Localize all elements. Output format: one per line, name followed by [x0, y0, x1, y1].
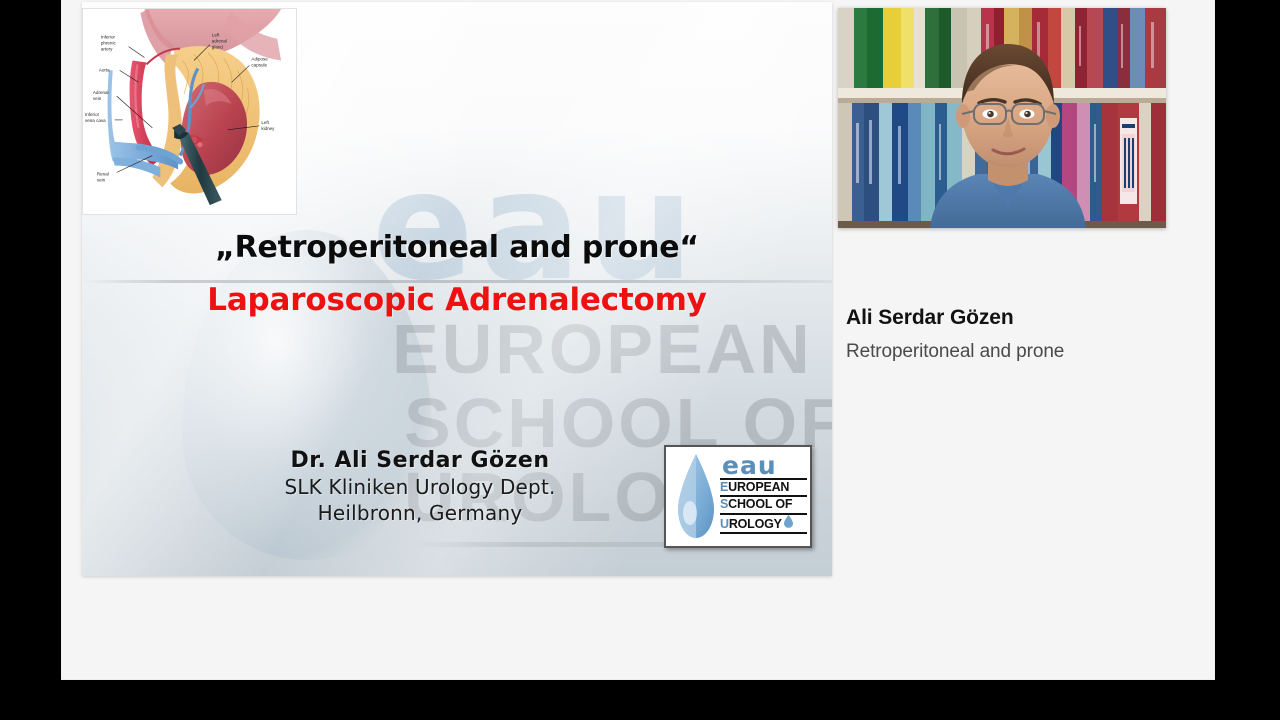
presenter-name: Ali Serdar Gözen — [846, 305, 1206, 331]
adrenal-anatomy-illustration: Inferior phrenic artery Aorta Adrenal ve… — [82, 8, 297, 215]
svg-text:phrenic: phrenic — [101, 41, 117, 46]
presentation-subtitle: Retroperitoneal and prone — [846, 340, 1206, 364]
esu-cap-e: E — [720, 480, 728, 495]
slide-presenter-name: Dr. Ali Serdar Gözen — [200, 448, 640, 473]
esu-logo: eau EUROPEAN SCHOOL OF UROLOGY — [664, 445, 812, 548]
slide-panel[interactable]: eau EUROPEAN SCHOOL OF UROLOGY — [82, 2, 832, 576]
content-page: eau EUROPEAN SCHOOL OF UROLOGY — [62, 0, 1214, 679]
svg-text:vein: vein — [93, 96, 102, 101]
webcam-frame-image — [838, 8, 1166, 228]
svg-text:Left: Left — [261, 120, 269, 125]
presenter-meta-block: Ali Serdar Gözen Retroperitoneal and pro… — [846, 305, 1206, 364]
svg-text:Aorta: Aorta — [99, 67, 110, 72]
slide-presenter-affiliation: SLK Kliniken Urology Dept. — [200, 475, 640, 499]
esu-logo-text-block: eau EUROPEAN SCHOOL OF UROLOGY — [720, 453, 807, 534]
svg-text:Adipose: Adipose — [251, 56, 268, 61]
esu-cap-u: U — [720, 517, 729, 532]
svg-text:Inferior: Inferior — [101, 35, 116, 40]
svg-text:artery: artery — [101, 47, 113, 52]
slide-presenter-block: Dr. Ali Serdar Gözen SLK Kliniken Urolog… — [200, 448, 640, 525]
presenter-webcam-video[interactable] — [838, 8, 1166, 228]
slide-title-line-2: Laparoscopic Adrenalectomy — [82, 282, 832, 318]
svg-text:adrenal: adrenal — [212, 39, 227, 44]
esu-row-european: EUROPEAN — [720, 478, 807, 495]
esu-brand-eau: eau — [720, 453, 807, 478]
esu-rest-uropean: UROPEAN — [728, 480, 789, 495]
esu-rest-rology: ROLOGY — [729, 517, 782, 532]
svg-text:Renal: Renal — [97, 171, 109, 176]
slide-title-line-1: „Retroperitoneal and prone“ — [82, 230, 832, 265]
lecture-viewer-root: eau EUROPEAN SCHOOL OF UROLOGY — [0, 0, 1280, 720]
esu-cap-s: S — [720, 497, 728, 512]
svg-text:Adrenal: Adrenal — [93, 90, 109, 95]
svg-text:vein: vein — [97, 177, 106, 182]
svg-text:Left: Left — [212, 33, 220, 38]
esu-rest-chool-of: CHOOL OF — [728, 497, 792, 512]
slide-presenter-city: Heilbronn, Germany — [200, 501, 640, 525]
esu-row-school-of: SCHOOL OF — [720, 495, 807, 512]
svg-text:kidney: kidney — [261, 126, 275, 131]
svg-text:Inferior: Inferior — [85, 112, 100, 117]
svg-text:gland: gland — [212, 45, 224, 50]
water-drop-icon — [674, 453, 718, 541]
esu-row-urology: UROLOGY — [720, 513, 807, 534]
svg-text:capsule: capsule — [251, 62, 267, 67]
watermark-line-european: EUROPEAN — [392, 314, 813, 384]
mini-water-drop-icon — [784, 515, 793, 528]
svg-text:vena cava: vena cava — [85, 118, 106, 123]
